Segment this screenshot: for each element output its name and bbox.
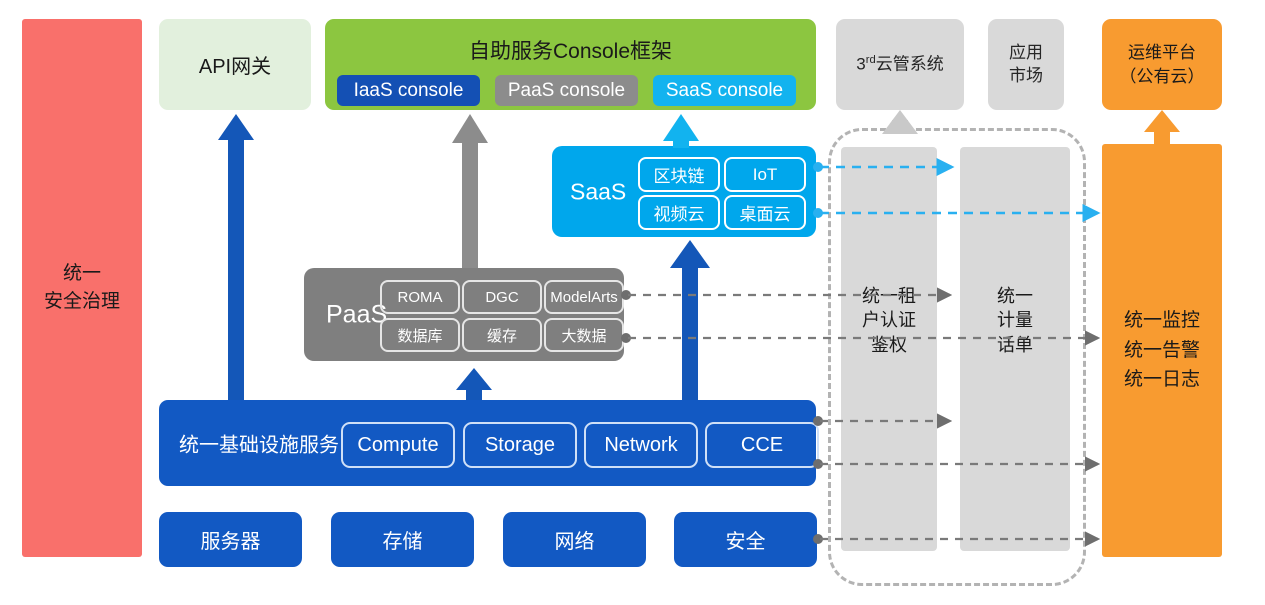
paas-tag-cache-label: 缓存 [487, 325, 517, 346]
paas-tag-database-label: 数据库 [397, 325, 442, 346]
unified-security-governance-panel: 统一 安全治理 [22, 19, 142, 557]
paas-tag-roma-label: ROMA [398, 289, 443, 306]
tenant-auth-line-3: 鉴权 [841, 333, 937, 357]
unified-infrastructure-label: 统一基础设施服务 [179, 429, 339, 458]
unified-monitoring-panel: 统一监控 统一告警 统一日志 [1102, 144, 1222, 557]
governance-line-1: 统一 [63, 260, 101, 288]
paas-tag-modelarts-label: ModelArts [550, 289, 618, 306]
arrow-iaas-to-paas [456, 368, 492, 400]
unified-tenant-auth-label: 统一租 户认证 鉴权 [841, 284, 937, 357]
paas-tag-bigdata[interactable]: 大数据 [544, 318, 624, 352]
ops-platform-line-1: 运维平台 [1128, 41, 1196, 65]
saas-console-button[interactable]: SaaS console [653, 75, 796, 106]
arrow-ops-panel-to-ops-platform [1144, 110, 1180, 146]
saas-tag-iot[interactable]: IoT [724, 157, 806, 192]
ops-panel-line-1: 统一监控 [1124, 306, 1200, 335]
saas-tag-video-cloud[interactable]: 视频云 [638, 195, 720, 230]
saas-tag-blockchain-label: 区块链 [654, 162, 705, 187]
paas-block-label: PaaS [326, 300, 387, 329]
paas-tag-roma[interactable]: ROMA [380, 280, 460, 314]
app-marketplace-line-1: 应用 [1009, 42, 1043, 65]
iaas-console-button[interactable]: IaaS console [337, 75, 480, 106]
hardware-security-label: 安全 [726, 525, 766, 554]
arrow-iaas-to-saas [670, 240, 710, 400]
api-gateway-label: API网关 [199, 50, 271, 79]
console-framework-title: 自助服务Console框架 [325, 35, 816, 65]
iaas-tag-compute-label: Compute [357, 434, 438, 457]
iaas-tag-compute[interactable]: Compute [341, 422, 455, 468]
iaas-tag-cce-label: CCE [741, 434, 783, 457]
paas-block: PaaS ROMA DGC ModelArts 数据库 缓存 大数据 [304, 268, 624, 361]
saas-block-label: SaaS [570, 178, 626, 205]
hardware-storage-box: 存储 [331, 512, 474, 567]
paas-tag-modelarts[interactable]: ModelArts [544, 280, 624, 314]
tenant-auth-line-2: 户认证 [841, 308, 937, 332]
paas-tag-cache[interactable]: 缓存 [462, 318, 542, 352]
metering-line-3: 话单 [960, 333, 1070, 357]
iaas-tag-network[interactable]: Network [584, 422, 698, 468]
saas-tag-video-cloud-label: 视频云 [654, 200, 705, 225]
arrow-saas-to-console [663, 114, 699, 148]
tenant-auth-line-1: 统一租 [841, 284, 937, 308]
metering-line-2: 计量 [960, 308, 1070, 332]
hardware-storage-label: 存储 [383, 525, 423, 554]
app-marketplace-line-2: 市场 [1009, 65, 1043, 88]
paas-console-label: PaaS console [508, 80, 625, 102]
paas-tag-dgc-label: DGC [485, 289, 518, 306]
architecture-diagram: 统一 安全治理 API网关 自助服务Console框架 IaaS console… [0, 0, 1265, 605]
app-marketplace-box: 应用 市场 [988, 19, 1064, 110]
hardware-server-label: 服务器 [201, 525, 261, 554]
arrow-iaas-to-api-gateway [218, 114, 254, 400]
ops-platform-line-2: （公有云） [1120, 65, 1205, 89]
saas-tag-blockchain[interactable]: 区块链 [638, 157, 720, 192]
ops-platform-public-cloud-box: 运维平台 （公有云） [1102, 19, 1222, 110]
api-gateway-box: API网关 [159, 19, 311, 110]
paas-console-button[interactable]: PaaS console [495, 75, 638, 106]
saas-tag-desktop-cloud-label: 桌面云 [740, 200, 791, 225]
third-party-cloud-mgmt-box: 3rd云管系统 [836, 19, 964, 110]
iaas-tag-cce[interactable]: CCE [705, 422, 819, 468]
console-framework-box: 自助服务Console框架 IaaS console PaaS console … [325, 19, 816, 110]
metering-line-1: 统一 [960, 284, 1070, 308]
third-party-prefix: 3 [856, 54, 865, 73]
saas-tag-desktop-cloud[interactable]: 桌面云 [724, 195, 806, 230]
arrow-paas-to-console [452, 114, 488, 268]
hardware-network-box: 网络 [503, 512, 646, 567]
ops-panel-line-2: 统一告警 [1124, 336, 1200, 365]
third-party-superscript: rd [866, 54, 876, 66]
iaas-console-label: IaaS console [354, 80, 464, 102]
saas-tag-iot-label: IoT [753, 165, 778, 185]
saas-console-label: SaaS console [666, 80, 783, 102]
governance-line-2: 安全治理 [44, 288, 120, 316]
unified-infrastructure-bar: 统一基础设施服务 Compute Storage Network CCE [159, 400, 816, 486]
paas-tag-dgc[interactable]: DGC [462, 280, 542, 314]
unified-metering-billing-label: 统一 计量 话单 [960, 284, 1070, 357]
hardware-server-box: 服务器 [159, 512, 302, 567]
iaas-tag-storage[interactable]: Storage [463, 422, 577, 468]
saas-block: SaaS 区块链 IoT 视频云 桌面云 [552, 146, 816, 237]
ops-panel-line-3: 统一日志 [1124, 365, 1200, 394]
paas-tag-database[interactable]: 数据库 [380, 318, 460, 352]
paas-tag-bigdata-label: 大数据 [561, 325, 606, 346]
iaas-tag-storage-label: Storage [485, 434, 555, 457]
iaas-tag-network-label: Network [604, 434, 677, 457]
hardware-security-box: 安全 [674, 512, 817, 567]
hardware-network-label: 网络 [555, 525, 595, 554]
third-party-cloud-mgmt-label: 3rd云管系统 [856, 53, 943, 77]
third-party-suffix: 云管系统 [876, 54, 944, 73]
